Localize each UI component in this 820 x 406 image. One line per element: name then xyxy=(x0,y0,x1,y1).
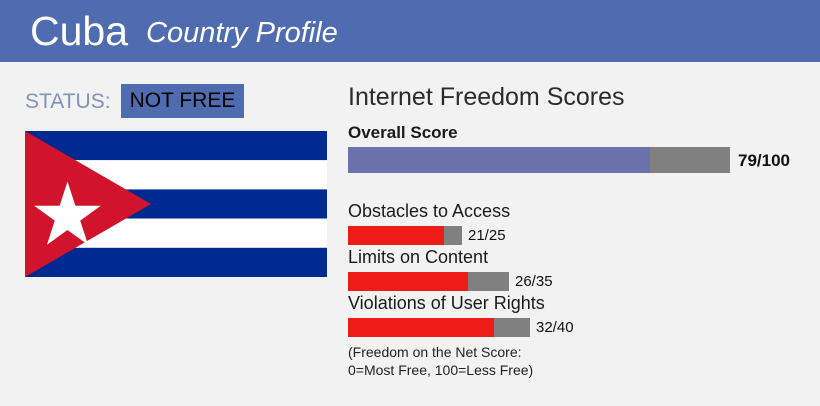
profile-subtitle: Country Profile xyxy=(146,19,338,48)
bar-value-limits: 26/35 xyxy=(515,274,553,289)
bar-row-overall: 79/100 xyxy=(348,147,790,173)
country-name: Cuba xyxy=(30,11,128,52)
bar-fill-limits xyxy=(348,272,468,291)
bar-track-violations xyxy=(348,318,530,337)
score-label-overall: Overall Score xyxy=(348,124,790,141)
cuba-flag xyxy=(25,131,327,277)
bar-fill-violations xyxy=(348,318,494,337)
bar-track-obstacles xyxy=(348,226,462,245)
bar-track-overall xyxy=(348,147,730,173)
bar-value-obstacles: 21/25 xyxy=(468,228,506,243)
bar-value-overall: 79/100 xyxy=(738,152,790,169)
score-block-overall: Overall Score 79/100 xyxy=(348,124,790,173)
bar-row-limits: 26/35 xyxy=(348,272,553,291)
page-header: Cuba Country Profile xyxy=(0,0,820,62)
bar-fill-overall xyxy=(348,147,650,173)
status-badge: NOT FREE xyxy=(121,84,245,118)
score-label-limits: Limits on Content xyxy=(348,248,553,266)
score-label-violations: Violations of User Rights xyxy=(348,294,574,312)
score-block-limits: Limits on Content 26/35 xyxy=(348,248,553,291)
bar-track-limits xyxy=(348,272,509,291)
score-block-violations: Violations of User Rights 32/40 xyxy=(348,294,574,337)
panel-title: Internet Freedom Scores xyxy=(348,85,625,110)
score-footnote: (Freedom on the Net Score: 0=Most Free, … xyxy=(348,343,533,379)
bar-row-violations: 32/40 xyxy=(348,318,574,337)
cuba-flag-icon xyxy=(25,131,327,277)
score-label-obstacles: Obstacles to Access xyxy=(348,202,510,220)
left-column: STATUS: NOT FREE xyxy=(0,62,340,406)
bar-row-obstacles: 21/25 xyxy=(348,226,510,245)
scores-panel: Internet Freedom Scores Overall Score 79… xyxy=(348,62,820,406)
status-label: STATUS: xyxy=(25,91,111,112)
bar-fill-obstacles xyxy=(348,226,444,245)
score-block-obstacles: Obstacles to Access 21/25 xyxy=(348,202,510,245)
bar-value-violations: 32/40 xyxy=(536,320,574,335)
status-row: STATUS: NOT FREE xyxy=(25,84,244,118)
